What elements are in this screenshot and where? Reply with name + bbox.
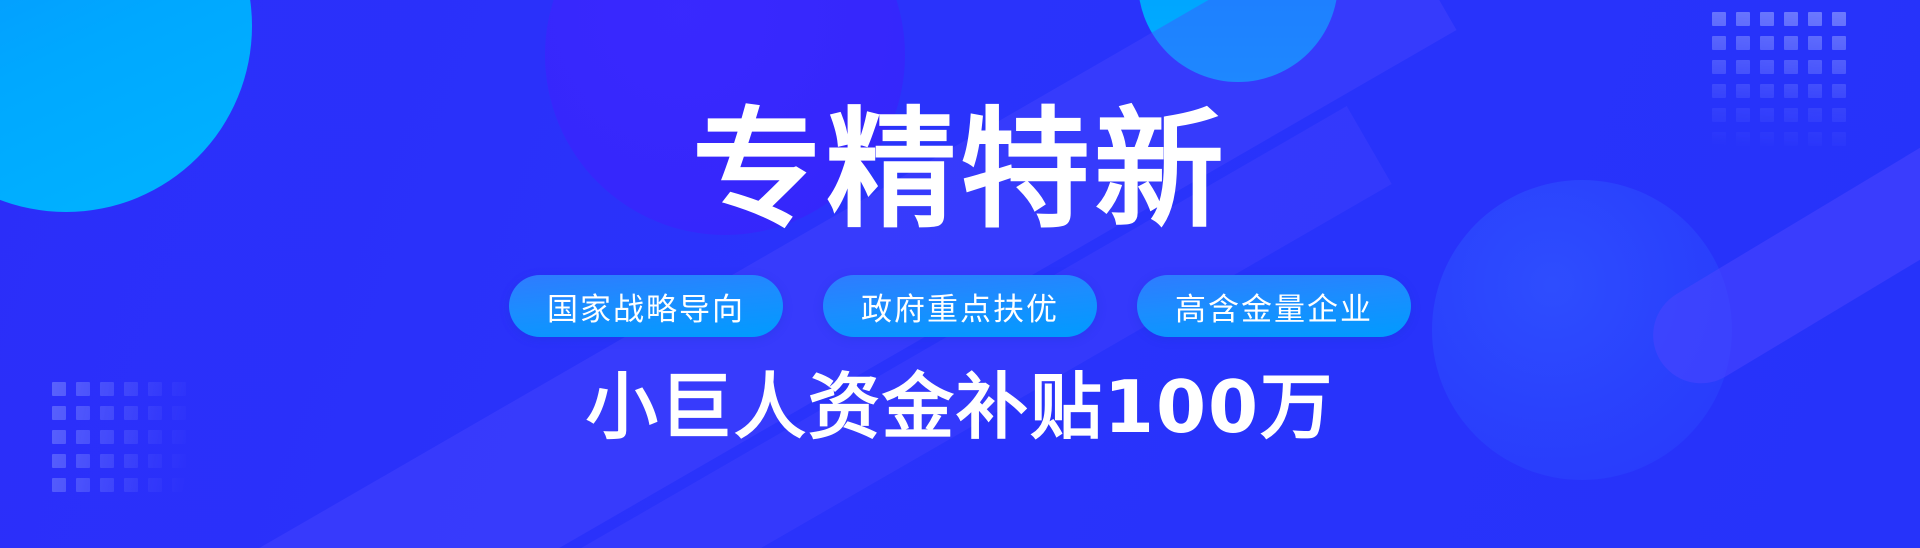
banner-content: 专精特新 国家战略导向 政府重点扶优 高含金量企业 小巨人资金补贴100万 [0,0,1920,548]
banner-tag-row: 国家战略导向 政府重点扶优 高含金量企业 [509,275,1411,337]
promo-banner: 专精特新 国家战略导向 政府重点扶优 高含金量企业 小巨人资金补贴100万 [0,0,1920,548]
banner-main-headline: 专精特新 [692,105,1228,235]
banner-tag-high-value-enterprise[interactable]: 高含金量企业 [1137,275,1411,337]
banner-sub-headline: 小巨人资金补贴100万 [586,371,1334,443]
banner-tag-national-strategy[interactable]: 国家战略导向 [509,275,783,337]
banner-tag-government-support[interactable]: 政府重点扶优 [823,275,1097,337]
